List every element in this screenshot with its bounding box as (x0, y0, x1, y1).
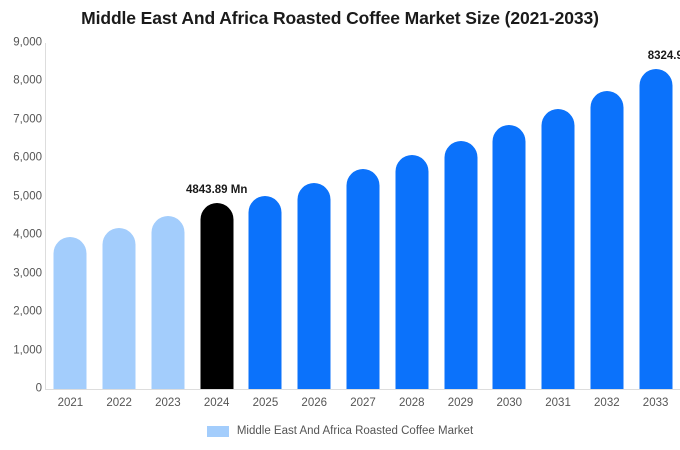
x-axis-tick-label-2030: 2030 (485, 397, 534, 409)
chart-container: Middle East And Africa Roasted Coffee Ma… (0, 0, 680, 450)
y-axis-tick-label: 2,000 (2, 306, 42, 318)
y-axis: 9,0008,0007,0006,0005,0004,0003,0002,000… (0, 0, 42, 450)
x-axis-tick-label-2033: 2033 (631, 397, 680, 409)
x-axis-tick-label-2022: 2022 (95, 397, 144, 409)
y-axis-tick-label: 4,000 (2, 229, 42, 241)
y-axis-tick-label: 7,000 (2, 114, 42, 126)
x-axis-tick-label-2024: 2024 (192, 397, 241, 409)
x-axis-tick-label-2032: 2032 (582, 397, 631, 409)
y-axis-tick-label: 1,000 (2, 345, 42, 357)
x-axis-tick-label-2021: 2021 (46, 397, 95, 409)
x-axis-tick-label-2028: 2028 (387, 397, 436, 409)
y-axis-tick-label: 0 (2, 383, 42, 395)
x-axis: 2021202220232024202520262027202820292030… (46, 0, 680, 450)
x-axis-tick-label-2029: 2029 (436, 397, 485, 409)
x-axis-tick-label-2025: 2025 (241, 397, 290, 409)
y-axis-tick-label: 9,000 (2, 37, 42, 49)
x-axis-tick-label-2031: 2031 (534, 397, 583, 409)
y-axis-tick-label: 3,000 (2, 268, 42, 280)
x-axis-tick-label-2027: 2027 (339, 397, 388, 409)
legend-swatch-icon (207, 426, 229, 437)
legend-item-label: Middle East And Africa Roasted Coffee Ma… (237, 425, 473, 437)
y-axis-tick-label: 8,000 (2, 76, 42, 88)
x-axis-tick-label-2026: 2026 (290, 397, 339, 409)
x-axis-tick-label-2023: 2023 (144, 397, 193, 409)
chart-legend: Middle East And Africa Roasted Coffee Ma… (0, 425, 680, 437)
y-axis-tick-label: 5,000 (2, 191, 42, 203)
y-axis-tick-label: 6,000 (2, 153, 42, 165)
